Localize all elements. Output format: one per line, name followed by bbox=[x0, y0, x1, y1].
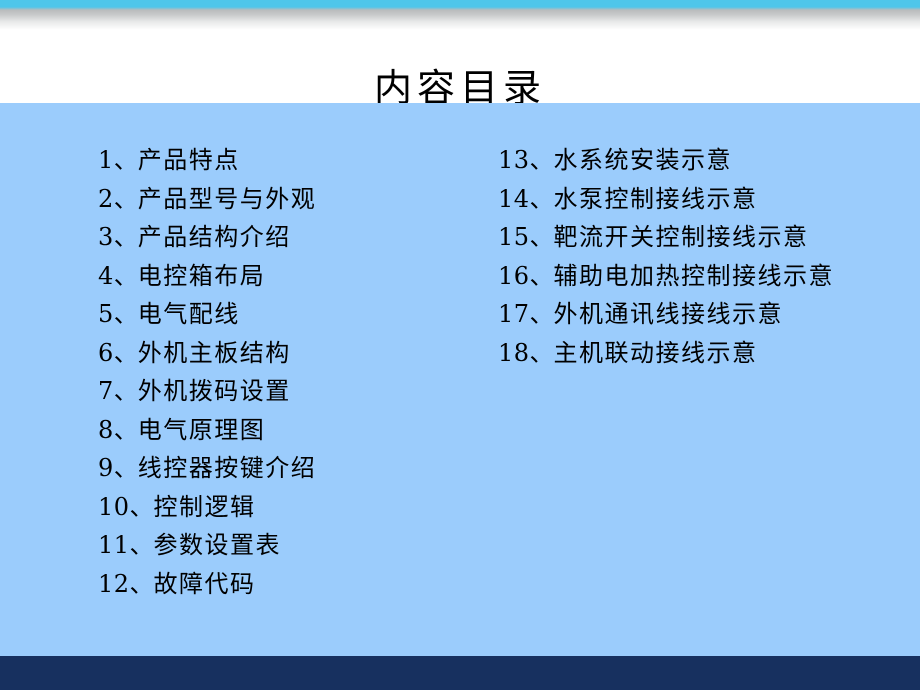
toc-item-separator: 、 bbox=[130, 531, 154, 559]
toc-item-label: 线控器按键介绍 bbox=[138, 454, 317, 482]
toc-item-number: 15 bbox=[498, 223, 530, 251]
toc-item-separator: 、 bbox=[114, 223, 138, 251]
toc-item[interactable]: 18、主机联动接线示意 bbox=[498, 334, 910, 373]
toc-item-label: 电控箱布局 bbox=[138, 262, 266, 290]
toc-item-label: 外机主板结构 bbox=[138, 339, 291, 367]
top-accent-band bbox=[0, 0, 920, 30]
toc-item-number: 5 bbox=[98, 300, 114, 328]
toc-item[interactable]: 17、外机通讯线接线示意 bbox=[498, 295, 910, 334]
toc-item-label: 水泵控制接线示意 bbox=[554, 185, 758, 213]
toc-item-number: 2 bbox=[98, 185, 114, 213]
toc-item-number: 13 bbox=[498, 146, 530, 174]
toc-item-number: 3 bbox=[98, 223, 114, 251]
toc-item[interactable]: 4、电控箱布局 bbox=[98, 257, 478, 296]
bottom-bar bbox=[0, 656, 920, 690]
toc-item-separator: 、 bbox=[114, 300, 138, 328]
toc-item-separator: 、 bbox=[114, 262, 138, 290]
toc-item[interactable]: 3、产品结构介绍 bbox=[98, 218, 478, 257]
toc-item-separator: 、 bbox=[114, 146, 138, 174]
toc-item-number: 1 bbox=[98, 146, 114, 174]
toc-item-separator: 、 bbox=[530, 185, 554, 213]
toc-item[interactable]: 2、产品型号与外观 bbox=[98, 180, 478, 219]
toc-item-label: 电气配线 bbox=[138, 300, 240, 328]
toc-item-number: 7 bbox=[98, 377, 114, 405]
toc-item-label: 控制逻辑 bbox=[154, 493, 256, 521]
toc-item-number: 12 bbox=[98, 570, 130, 598]
toc-item-separator: 、 bbox=[530, 262, 554, 290]
toc-item[interactable]: 8、电气原理图 bbox=[98, 411, 478, 450]
toc-item-separator: 、 bbox=[530, 339, 554, 367]
toc-item-separator: 、 bbox=[114, 454, 138, 482]
toc-item-separator: 、 bbox=[530, 223, 554, 251]
presentation-slide: 内容目录 1、产品特点2、产品型号与外观3、产品结构介绍4、电控箱布局5、电气配… bbox=[0, 0, 920, 690]
toc-item-label: 产品结构介绍 bbox=[138, 223, 291, 251]
toc-item[interactable]: 7、外机拨码设置 bbox=[98, 372, 478, 411]
toc-item[interactable]: 5、电气配线 bbox=[98, 295, 478, 334]
toc-item[interactable]: 10、控制逻辑 bbox=[98, 488, 478, 527]
toc-item[interactable]: 13、水系统安装示意 bbox=[498, 141, 910, 180]
toc-item-number: 17 bbox=[498, 300, 530, 328]
toc-item-number: 14 bbox=[498, 185, 530, 213]
toc-item[interactable]: 16、辅助电加热控制接线示意 bbox=[498, 257, 910, 296]
toc-item-number: 10 bbox=[98, 493, 130, 521]
toc-item-label: 水系统安装示意 bbox=[554, 146, 733, 174]
toc-item-number: 16 bbox=[498, 262, 530, 290]
content-panel: 1、产品特点2、产品型号与外观3、产品结构介绍4、电控箱布局5、电气配线6、外机… bbox=[0, 103, 920, 656]
toc-left-column: 1、产品特点2、产品型号与外观3、产品结构介绍4、电控箱布局5、电气配线6、外机… bbox=[98, 141, 478, 603]
toc-item-label: 电气原理图 bbox=[138, 416, 266, 444]
toc-item-number: 4 bbox=[98, 262, 114, 290]
toc-item[interactable]: 12、故障代码 bbox=[98, 565, 478, 604]
table-of-contents: 1、产品特点2、产品型号与外观3、产品结构介绍4、电控箱布局5、电气配线6、外机… bbox=[0, 103, 920, 656]
toc-item-separator: 、 bbox=[130, 493, 154, 521]
toc-item[interactable]: 11、参数设置表 bbox=[98, 526, 478, 565]
toc-item[interactable]: 6、外机主板结构 bbox=[98, 334, 478, 373]
toc-item-number: 18 bbox=[498, 339, 530, 367]
toc-item[interactable]: 1、产品特点 bbox=[98, 141, 478, 180]
toc-item-separator: 、 bbox=[114, 339, 138, 367]
toc-item-number: 9 bbox=[98, 454, 114, 482]
toc-item-label: 辅助电加热控制接线示意 bbox=[554, 262, 835, 290]
toc-item[interactable]: 14、水泵控制接线示意 bbox=[498, 180, 910, 219]
toc-item[interactable]: 15、靶流开关控制接线示意 bbox=[498, 218, 910, 257]
toc-item-separator: 、 bbox=[530, 146, 554, 174]
toc-item-label: 主机联动接线示意 bbox=[554, 339, 758, 367]
toc-item-separator: 、 bbox=[530, 300, 554, 328]
toc-item-label: 外机通讯线接线示意 bbox=[554, 300, 784, 328]
toc-item-label: 靶流开关控制接线示意 bbox=[554, 223, 809, 251]
toc-item-label: 故障代码 bbox=[154, 570, 256, 598]
toc-item-separator: 、 bbox=[114, 185, 138, 213]
toc-item-separator: 、 bbox=[130, 570, 154, 598]
toc-item[interactable]: 9、线控器按键介绍 bbox=[98, 449, 478, 488]
toc-item-separator: 、 bbox=[114, 377, 138, 405]
toc-item-number: 6 bbox=[98, 339, 114, 367]
toc-item-label: 产品特点 bbox=[138, 146, 240, 174]
title-area: 内容目录 bbox=[0, 30, 920, 103]
toc-item-number: 11 bbox=[98, 531, 130, 559]
toc-item-label: 产品型号与外观 bbox=[138, 185, 317, 213]
toc-item-separator: 、 bbox=[114, 416, 138, 444]
toc-item-label: 外机拨码设置 bbox=[138, 377, 291, 405]
toc-right-column: 13、水系统安装示意14、水泵控制接线示意15、靶流开关控制接线示意16、辅助电… bbox=[498, 141, 910, 372]
toc-item-number: 8 bbox=[98, 416, 114, 444]
toc-item-label: 参数设置表 bbox=[154, 531, 282, 559]
